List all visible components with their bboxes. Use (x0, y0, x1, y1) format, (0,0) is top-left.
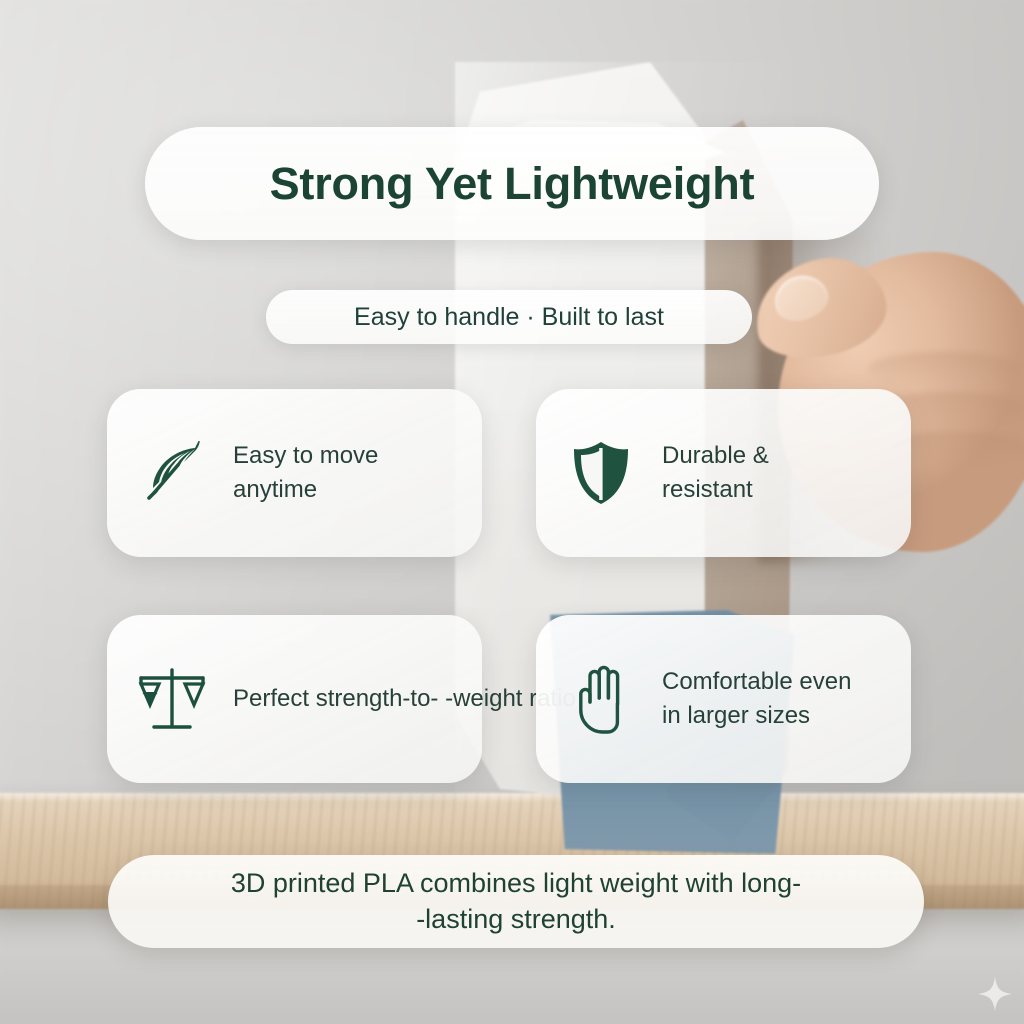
feature-label: Comfortable even in larger sizes (662, 665, 851, 733)
shield-icon (562, 434, 640, 512)
feature-label: Easy to move anytime (233, 439, 378, 507)
feature-card-easy-to-move[interactable]: Easy to move anytime (107, 389, 482, 557)
overlay-layer: Strong Yet Lightweight Easy to handle · … (0, 0, 1024, 1024)
footer-text: 3D printed PLA combines light weight wit… (231, 866, 801, 938)
feature-label: Perfect strength-to- -weight ratio (233, 682, 576, 716)
infographic-canvas: Strong Yet Lightweight Easy to handle · … (0, 0, 1024, 1024)
feature-card-strength-to-weight[interactable]: Perfect strength-to- -weight ratio (107, 615, 482, 783)
feature-card-durable[interactable]: Durable & resistant (536, 389, 911, 557)
balance-scale-icon (133, 660, 211, 738)
open-hand-icon (562, 660, 640, 738)
footer-pill: 3D printed PLA combines light weight wit… (108, 855, 924, 948)
feature-label: Durable & resistant (662, 439, 769, 507)
feather-icon (133, 434, 211, 512)
sparkle-icon (978, 977, 1012, 1011)
feature-card-comfortable[interactable]: Comfortable even in larger sizes (536, 615, 911, 783)
